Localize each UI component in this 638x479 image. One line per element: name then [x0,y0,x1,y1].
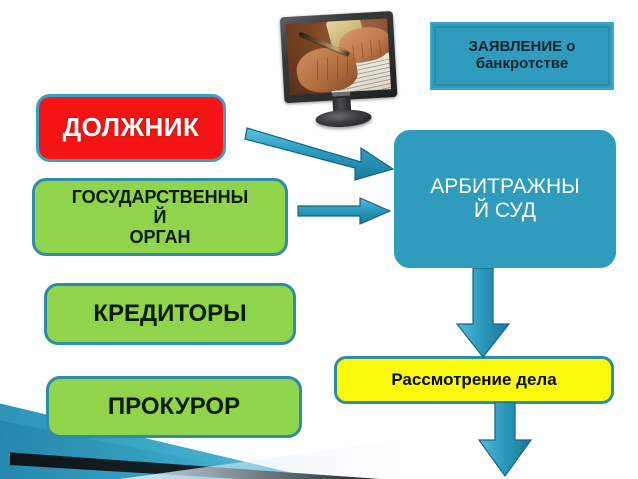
node-prosecutor-label: ПРОКУРОР [49,394,299,421]
node-court-line2: Й СУД [474,199,536,222]
bankruptcy-flow-diagram: ДОЛЖНИК ГОСУДАРСТВЕННЫ Й ОРГАН КРЕДИТОРЫ… [0,0,638,479]
node-state-organ-line2: Й [154,207,167,227]
node-case-review-label: Рассмотрение дела [337,370,611,389]
arrow-down-icon [474,402,536,478]
node-court-line1: АРБИТРАЖНЫ [430,175,579,198]
node-prosecutor: ПРОКУРОР [46,376,302,438]
node-state-organ-label: ГОСУДАРСТВЕННЫ Й ОРГАН [41,187,279,247]
monitor-stand-base [315,108,372,128]
node-case-review: Рассмотрение дела [334,356,614,404]
node-bankruptcy-application: ЗАЯВЛЕНИЕ о банкротстве [430,22,614,90]
node-state-organ-line3: ОРГАН [129,227,190,247]
node-application-line1: ЗАЯВЛЕНИЕ о [469,38,576,55]
computer-monitor-icon [280,9,403,137]
node-bankruptcy-application-label: ЗАЯВЛЕНИЕ о банкротстве [432,39,612,73]
arrow-right-icon [296,196,392,226]
node-state-organ: ГОСУДАРСТВЕННЫ Й ОРГАН [32,178,288,256]
node-creditors: КРЕДИТОРЫ [44,283,296,345]
node-debtor-label: ДОЛЖНИК [39,113,223,142]
node-creditors-label: КРЕДИТОРЫ [47,301,293,328]
node-arbitration-court-label: АРБИТРАЖНЫ Й СУД [397,175,613,222]
monitor-bezel [280,11,398,103]
monitor-screen [286,18,391,95]
node-arbitration-court: АРБИТРАЖНЫ Й СУД [394,130,616,268]
arrow-down-icon [452,268,514,360]
node-debtor: ДОЛЖНИК [36,94,226,162]
node-application-line2: банкротстве [476,55,568,72]
monitor-logo [332,92,350,97]
node-state-organ-line1: ГОСУДАРСТВЕННЫ [72,187,249,207]
